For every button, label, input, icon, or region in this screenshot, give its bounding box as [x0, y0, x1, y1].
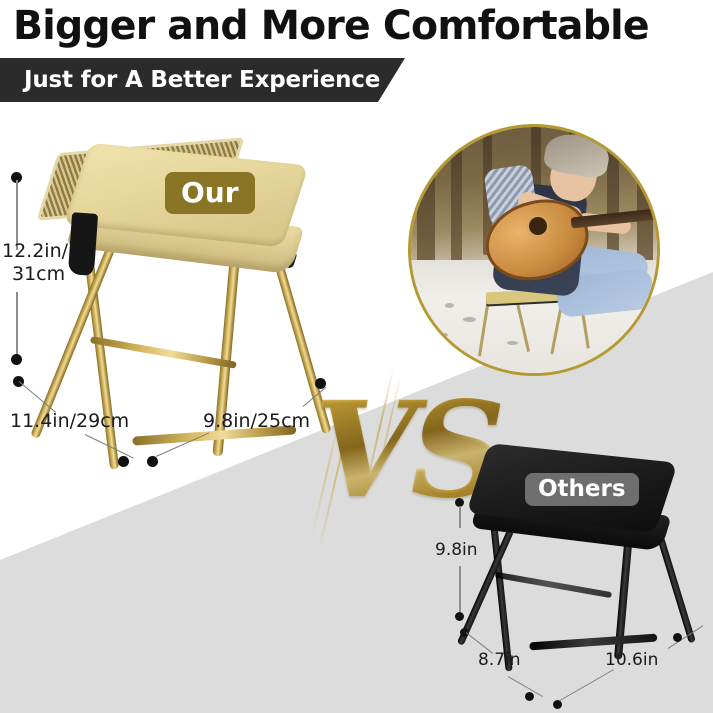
photo-guitar-soundhole [529, 217, 547, 235]
dimension-dot [147, 456, 158, 467]
tree-trunk [637, 127, 653, 270]
dimension-dot [673, 633, 682, 642]
our-height-dimension-line2: 31cm [12, 263, 65, 286]
ground-speck [463, 317, 476, 322]
page-title: Bigger and More Comfortable [13, 3, 693, 49]
infographic-canvas: Bigger and More Comfortable Just for A B… [0, 0, 713, 713]
others-badge: Others [525, 473, 639, 506]
dimension-line-height [459, 566, 461, 612]
others-width-dimension: 10.6in [605, 650, 658, 670]
tree-trunk [607, 127, 619, 265]
others-depth-dimension: 8.7in [478, 650, 521, 670]
dimension-dot [455, 612, 464, 621]
our-badge: Our [165, 172, 255, 214]
ground-speck [507, 341, 518, 345]
dimension-dot [11, 354, 22, 365]
others-stool-crossbar [529, 634, 657, 651]
ground-speck [445, 303, 454, 308]
our-height-dimension-line1: 12.2in/ [2, 240, 68, 263]
dimension-dot [525, 692, 534, 701]
subtitle-text: Just for A Better Experience [24, 67, 380, 93]
our-width-dimension: 9.8in/25cm [203, 410, 310, 433]
tree-trunk [417, 127, 435, 270]
others-height-dimension: 9.8in [435, 540, 478, 560]
tree-trunk [451, 127, 462, 262]
others-stool-pivot-bar [495, 572, 612, 598]
our-depth-dimension: 11.4in/29cm [10, 410, 129, 433]
our-stool-pivot-bar [90, 336, 237, 369]
dimension-dot [553, 700, 562, 709]
our-stool-carry-strap [68, 212, 98, 276]
lifestyle-photo [411, 127, 657, 373]
dimension-dot [118, 456, 129, 467]
dimension-line-height [16, 292, 18, 358]
dimension-line-height [459, 506, 461, 528]
ground-speck [441, 333, 448, 337]
